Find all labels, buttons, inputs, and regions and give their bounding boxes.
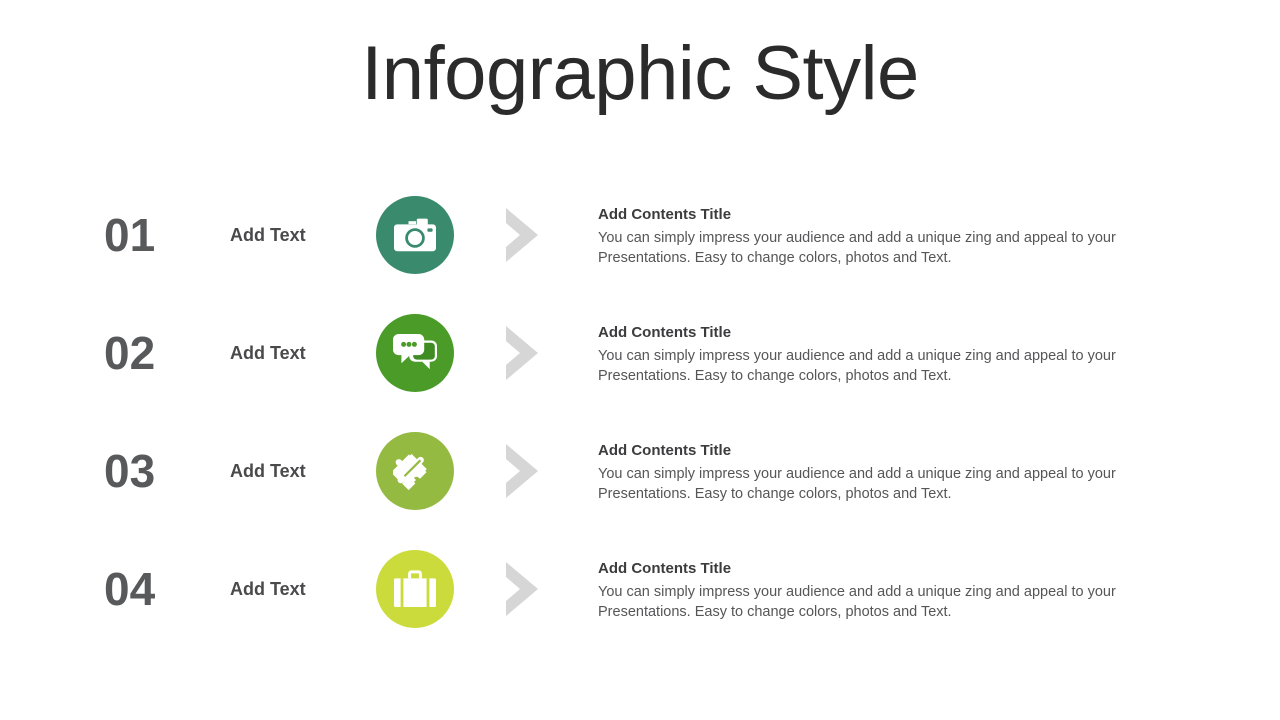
icon-circle-02[interactable] <box>376 314 454 392</box>
camera-icon <box>394 218 436 252</box>
content-body-04: You can simply impress your audience and… <box>598 582 1178 622</box>
row-subtitle-04: Add Text <box>230 576 370 602</box>
list-item[interactable]: 04 Add Text Add Contents Ti <box>0 550 1280 668</box>
chevron-right-icon <box>498 324 548 382</box>
briefcase-icon <box>394 569 436 609</box>
content-title-02: Add Contents Title <box>598 322 1178 344</box>
chevron-right-icon <box>498 442 548 500</box>
content-title-01: Add Contents Title <box>598 204 1178 226</box>
content-body-02: You can simply impress your audience and… <box>598 346 1178 386</box>
content-title-03: Add Contents Title <box>598 440 1178 462</box>
list-item[interactable]: 03 Add Text <box>0 432 1280 550</box>
row-subtitle-02: Add Text <box>230 340 370 366</box>
text-block-03: Add Contents Title You can simply impres… <box>598 440 1178 504</box>
content-body-03: You can simply impress your audience and… <box>598 464 1178 504</box>
page-title: Infographic Style <box>0 28 1280 120</box>
row-number-04: 04 <box>104 562 190 616</box>
chat-bubbles-icon <box>393 334 437 372</box>
icon-circle-04[interactable] <box>376 550 454 628</box>
list-item[interactable]: 02 Add Text <box>0 314 1280 432</box>
text-block-01: Add Contents Title You can simply impres… <box>598 204 1178 268</box>
list-item[interactable]: 01 Add Text Ad <box>0 196 1280 314</box>
icon-circle-03[interactable] <box>376 432 454 510</box>
content-title-04: Add Contents Title <box>598 558 1178 580</box>
row-number-02: 02 <box>104 326 190 380</box>
puzzle-pieces-icon <box>393 449 437 493</box>
chevron-right-icon <box>498 560 548 618</box>
text-block-02: Add Contents Title You can simply impres… <box>598 322 1178 386</box>
infographic-rows-list: 01 Add Text Ad <box>0 196 1280 668</box>
row-number-03: 03 <box>104 444 190 498</box>
row-number-01: 01 <box>104 208 190 262</box>
content-body-01: You can simply impress your audience and… <box>598 228 1178 268</box>
row-subtitle-03: Add Text <box>230 458 370 484</box>
infographic-slide: Infographic Style 01 Add Text <box>0 0 1280 720</box>
row-subtitle-01: Add Text <box>230 222 370 248</box>
icon-circle-01[interactable] <box>376 196 454 274</box>
text-block-04: Add Contents Title You can simply impres… <box>598 558 1178 622</box>
chevron-right-icon <box>498 206 548 264</box>
